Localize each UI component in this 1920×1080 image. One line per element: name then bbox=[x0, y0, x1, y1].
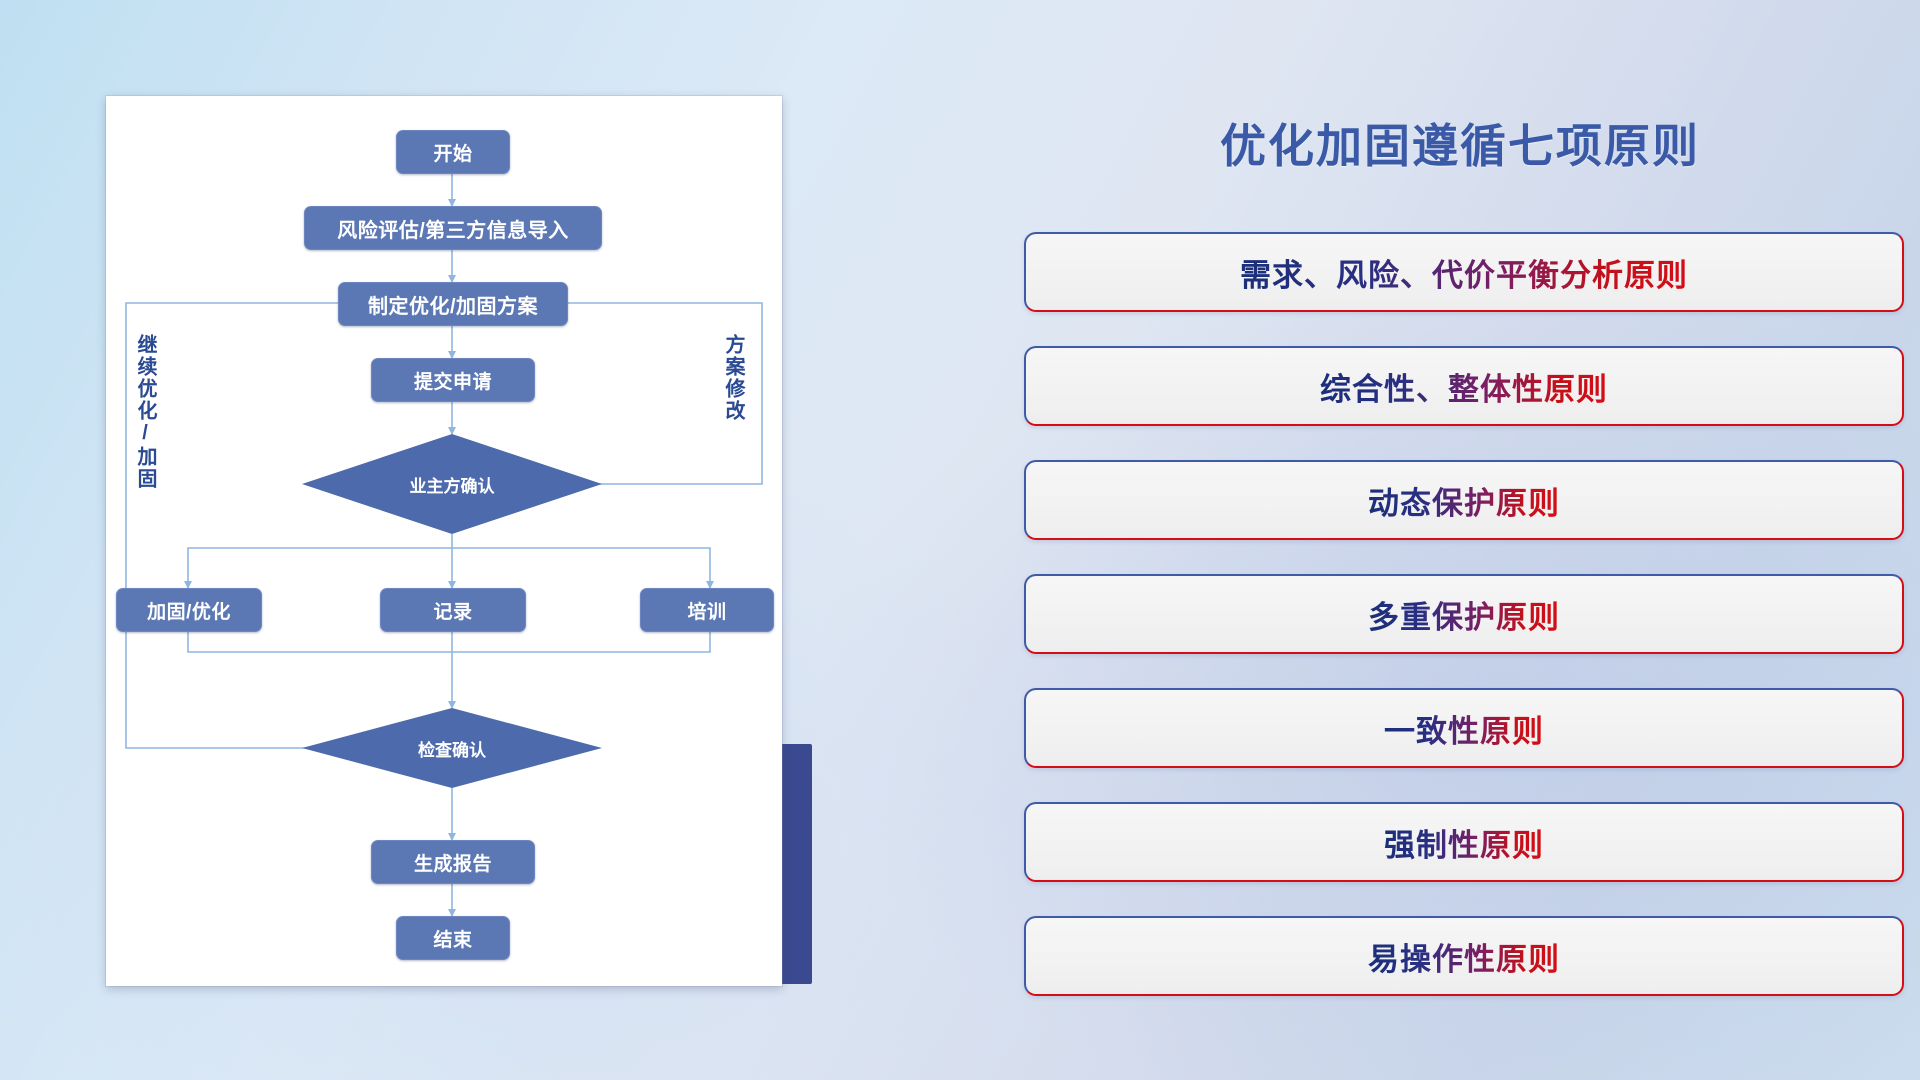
principle-card-2-label: 综合性、整体性原则 bbox=[1320, 364, 1608, 409]
principle-card-4-label: 多重保护原则 bbox=[1368, 592, 1560, 637]
flow-node-record[interactable]: 记录 bbox=[380, 588, 526, 632]
diamond-shape bbox=[302, 708, 602, 788]
principle-card-7[interactable]: 易操作性原则 bbox=[1024, 916, 1904, 996]
principle-card-6-label: 强制性原则 bbox=[1384, 820, 1544, 865]
principle-card-1[interactable]: 需求、风险、代价平衡分析原则 bbox=[1024, 232, 1904, 312]
flow-node-start[interactable]: 开始 bbox=[396, 130, 510, 174]
principle-card-2[interactable]: 综合性、整体性原则 bbox=[1024, 346, 1904, 426]
principles-panel: 优化加固遵循七项原则 需求、风险、代价平衡分析原则 综合性、整体性原则 动态保护… bbox=[1000, 0, 1920, 1080]
principles-title: 优化加固遵循七项原则 bbox=[1000, 110, 1920, 176]
flow-node-report[interactable]: 生成报告 bbox=[371, 840, 535, 884]
edge-label-plan-revision: 方案修改 bbox=[722, 334, 743, 422]
principle-card-6[interactable]: 强制性原则 bbox=[1024, 802, 1904, 882]
principle-card-3-label: 动态保护原则 bbox=[1368, 478, 1560, 523]
principle-card-1-label: 需求、风险、代价平衡分析原则 bbox=[1240, 250, 1688, 295]
principle-card-5-label: 一致性原则 bbox=[1384, 706, 1544, 751]
edge-label-continue-optimize: 继续优化/加固 bbox=[134, 334, 155, 490]
flowchart-diagram: 开始 风险评估/第三方信息导入 制定优化/加固方案 提交申请 业主方确认 加固/… bbox=[106, 96, 782, 986]
flow-node-training[interactable]: 培训 bbox=[640, 588, 774, 632]
principle-card-5[interactable]: 一致性原则 bbox=[1024, 688, 1904, 768]
principle-card-4[interactable]: 多重保护原则 bbox=[1024, 574, 1904, 654]
principle-card-3[interactable]: 动态保护原则 bbox=[1024, 460, 1904, 540]
flow-node-reinforce[interactable]: 加固/优化 bbox=[116, 588, 262, 632]
flow-node-check-confirm[interactable]: 检查确认 bbox=[302, 708, 602, 788]
flow-node-end[interactable]: 结束 bbox=[396, 916, 510, 960]
flow-node-submit[interactable]: 提交申请 bbox=[371, 358, 535, 402]
flow-node-plan[interactable]: 制定优化/加固方案 bbox=[338, 282, 568, 326]
principles-list: 需求、风险、代价平衡分析原则 综合性、整体性原则 动态保护原则 多重保护原则 一… bbox=[1024, 232, 1904, 1030]
flowchart-panel: 开始 风险评估/第三方信息导入 制定优化/加固方案 提交申请 业主方确认 加固/… bbox=[0, 0, 820, 1080]
diamond-shape bbox=[302, 434, 602, 534]
flow-node-owner-confirm[interactable]: 业主方确认 bbox=[302, 434, 602, 534]
flow-node-risk-assessment[interactable]: 风险评估/第三方信息导入 bbox=[304, 206, 602, 250]
principle-card-7-label: 易操作性原则 bbox=[1368, 934, 1560, 979]
